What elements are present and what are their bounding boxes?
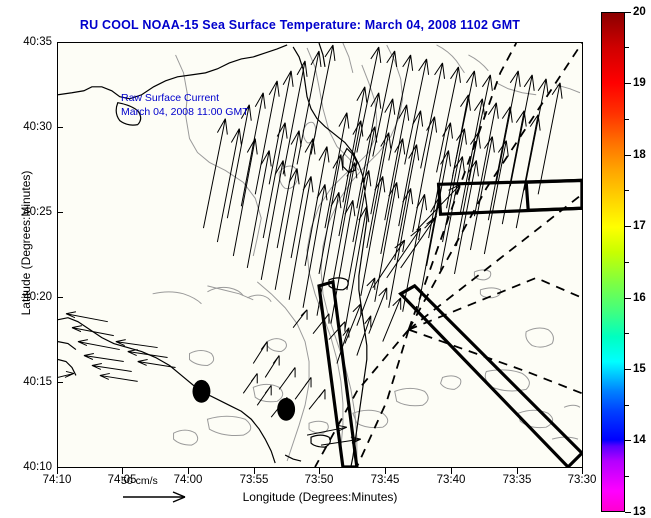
y-tick-label-5: 40:35: [6, 36, 52, 48]
y-tick-label-1: 40:15: [6, 376, 52, 388]
colorbar-tick-20: [625, 12, 631, 13]
x-tick-label-0: 74:10: [29, 474, 85, 486]
y-tick-3: [57, 212, 63, 213]
y-tick-0: [57, 467, 63, 468]
colorbar-minortick-e: [625, 190, 629, 191]
colorbar-label-13: 13: [633, 506, 646, 518]
colorbar-tick-15: [625, 369, 631, 370]
y-tick-label-0: 40:10: [6, 461, 52, 473]
colorbar-label-15: 15: [633, 363, 646, 375]
colorbar-label-14: 14: [633, 434, 646, 446]
x-tick-label-6: 73:40: [423, 474, 479, 486]
x-tick-label-1: 74:05: [94, 474, 150, 486]
colorbar-label-20: 20: [633, 6, 646, 18]
colorbar-tick-13: [625, 512, 631, 513]
y-tick-label-4: 40:30: [6, 121, 52, 133]
y-tick-1: [57, 382, 63, 383]
x-axis-title: Longitude (Degrees:Minutes): [57, 490, 583, 504]
colorbar-minortick-a: [625, 476, 629, 477]
colorbar-minortick-g: [625, 47, 629, 48]
colorbar-gradient: [601, 12, 625, 512]
colorbar-minortick-f: [625, 119, 629, 120]
y-axis-title: Latitude (Degrees:Minutes): [19, 143, 33, 343]
radial-bearing-lines: [315, 43, 582, 467]
colorbar-label-18: 18: [633, 149, 646, 161]
x-tick-label-7: 73:35: [489, 474, 545, 486]
colorbar-tick-16: [625, 298, 631, 299]
y-tick-5: [57, 42, 63, 43]
station-markers: [192, 380, 295, 421]
x-tick-label-3: 73:55: [226, 474, 282, 486]
colorbar-tick-14: [625, 440, 631, 441]
colorbar-minortick-b: [625, 405, 629, 406]
colorbar-minortick-d: [625, 262, 629, 263]
map-canvas: [58, 43, 582, 467]
colorbar-tick-19: [625, 83, 631, 84]
colorbar-minortick-c: [625, 333, 629, 334]
colorbar-label-16: 16: [633, 292, 646, 304]
map-plot-area[interactable]: Raw Surface Current March 04, 2008 11:00…: [57, 42, 583, 468]
colorbar-label-17: 17: [633, 220, 646, 232]
page-title: RU COOL NOAA-15 Sea Surface Temperature:…: [0, 18, 600, 32]
x-tick-label-5: 73:45: [357, 474, 413, 486]
x-tick-label-2: 74:00: [160, 474, 216, 486]
colorbar-tick-18: [625, 155, 631, 156]
figure-root: RU COOL NOAA-15 Sea Surface Temperature:…: [0, 0, 651, 518]
colorbar-label-19: 19: [633, 77, 646, 89]
colorbar-tick-17: [625, 226, 631, 227]
x-tick-label-4: 73:50: [291, 474, 347, 486]
y-tick-4: [57, 127, 63, 128]
colorbar[interactable]: [601, 12, 625, 512]
y-tick-2: [57, 297, 63, 298]
